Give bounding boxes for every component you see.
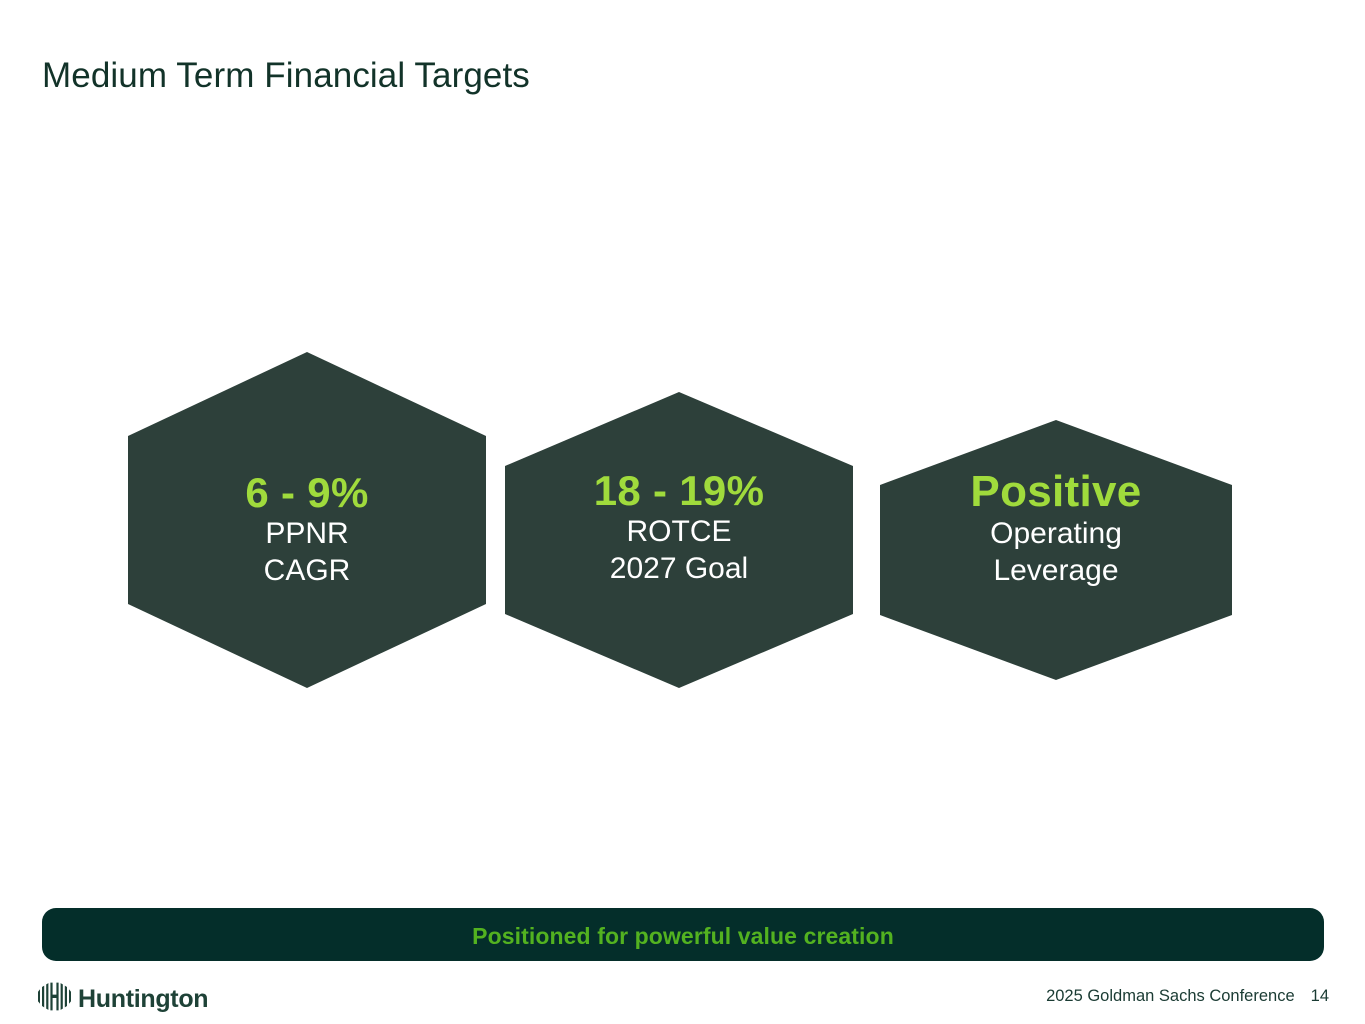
- huntington-wordmark: Huntington: [78, 987, 208, 1012]
- target-hexagon-rotce: 18 - 19% ROTCE 2027 Goal: [505, 392, 853, 688]
- tagline-text: Positioned for powerful value creation: [42, 923, 1324, 950]
- target-subline-2: 2027 Goal: [505, 551, 853, 588]
- target-headline: 18 - 19%: [505, 470, 853, 512]
- footer-meta: 2025 Goldman Sachs Conference 14: [1046, 987, 1329, 1006]
- conference-name: 2025 Goldman Sachs Conference: [1046, 987, 1295, 1006]
- target-hexagon-operating-leverage: Positive Operating Leverage: [880, 420, 1232, 680]
- target-hexagon-ppnr-content: 6 - 9% PPNR CAGR: [128, 472, 486, 589]
- target-subline-2: CAGR: [128, 553, 486, 590]
- target-headline: 6 - 9%: [128, 472, 486, 514]
- target-subline-1: PPNR: [128, 516, 486, 553]
- slide-canvas: Medium Term Financial Targets 6 - 9% PPN…: [0, 0, 1365, 1024]
- tagline-banner: Positioned for powerful value creation: [42, 908, 1324, 961]
- target-subline-1: Operating: [880, 516, 1232, 553]
- target-hexagon-operating-leverage-content: Positive Operating Leverage: [880, 470, 1232, 589]
- page-number: 14: [1311, 987, 1329, 1006]
- target-subline-2: Leverage: [880, 553, 1232, 590]
- target-headline: Positive: [880, 470, 1232, 514]
- target-hexagon-rotce-content: 18 - 19% ROTCE 2027 Goal: [505, 470, 853, 587]
- huntington-logo: Huntington: [38, 982, 208, 1016]
- huntington-hexagon-mark-icon: [38, 982, 71, 1016]
- target-hexagon-ppnr: 6 - 9% PPNR CAGR: [128, 352, 486, 688]
- targets-group: 6 - 9% PPNR CAGR 18 - 19% ROTCE 2027 Goa…: [0, 0, 1365, 1024]
- target-subline-1: ROTCE: [505, 514, 853, 551]
